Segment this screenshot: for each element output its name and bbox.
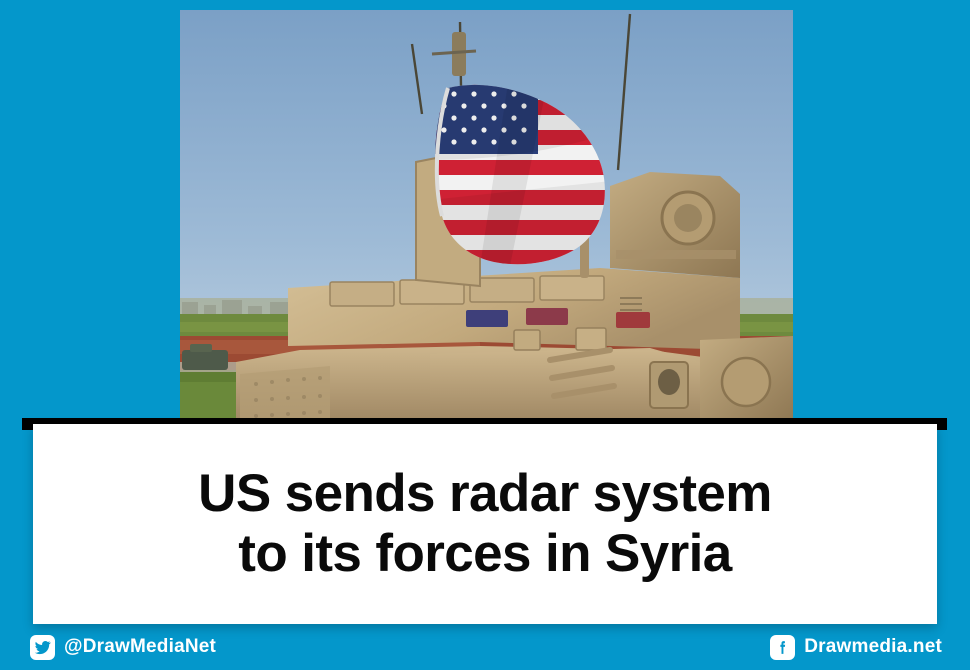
- twitter-bird-icon[interactable]: [30, 635, 55, 660]
- twitter-link[interactable]: @DrawMediaNet: [30, 624, 216, 670]
- photo-illustration: [180, 10, 793, 423]
- facebook-link[interactable]: Drawmedia.net: [770, 624, 942, 670]
- news-graphic-card: US sends radar system to its forces in S…: [0, 0, 970, 670]
- footer-bar: @DrawMediaNet Drawmedia.net: [0, 624, 970, 670]
- antenna-base: [452, 32, 466, 76]
- news-photo: [180, 10, 793, 423]
- twitter-handle: @DrawMediaNet: [64, 636, 216, 658]
- headline-text: US sends radar system to its forces in S…: [168, 464, 802, 585]
- headline-card: US sends radar system to its forces in S…: [33, 424, 937, 624]
- facebook-handle: Drawmedia.net: [804, 636, 942, 658]
- facebook-f-icon[interactable]: [770, 635, 795, 660]
- side-hatch: [722, 358, 770, 406]
